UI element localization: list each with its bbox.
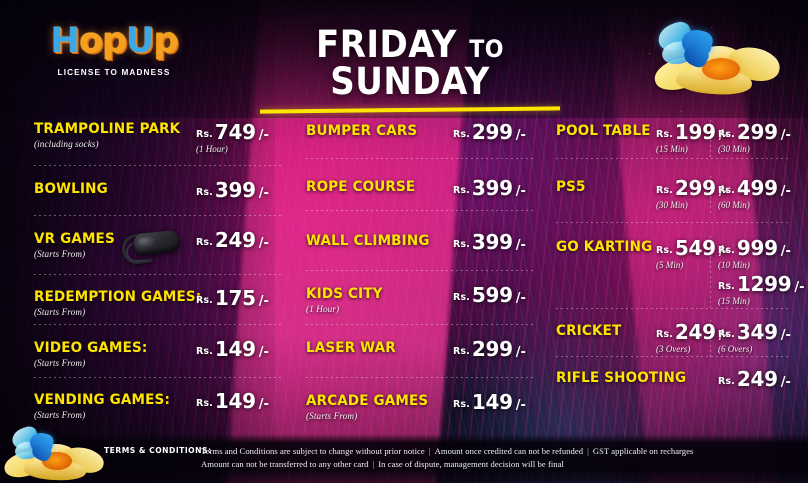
price-column-divider [710,176,711,214]
terms-line-1: Terms and Conditions are subject to chan… [201,445,801,458]
price-slash: /- [259,186,269,201]
currency-label: Rs. [196,398,213,409]
price-row: REDEMPTION GAMES: (Starts From) Rs.175/- [34,290,282,317]
currency-label: Rs. [656,245,673,256]
price-cell: Rs.299/- (30 Min) [718,122,791,154]
price-slash: /- [516,184,526,199]
price-amount: 249 [737,367,778,391]
price-amount: 149 [215,389,256,413]
currency-label: Rs. [656,129,673,140]
terms-line1-part-c: GST applicable on recharges [593,446,694,456]
row-divider [556,158,788,159]
promo-poster: HopUp LICENSE TO MADNESS FRIDAY TO SUNDA… [0,0,808,483]
brand-tagline: LICENSE TO MADNESS [46,68,182,77]
price-note: (30 Min) [718,145,791,154]
currency-label: Rs. [453,239,470,250]
price-row: BUMPER CARS Rs.299/- [306,124,534,139]
price-cell: Rs.149/- [453,392,526,412]
row-divider [556,308,788,309]
terms-line2-part-a: Amount can not be transferred to any oth… [201,459,368,469]
price-cell: Rs.599/- [453,285,526,305]
currency-label: Rs. [453,129,470,140]
price-note: (10 Min) [718,261,791,270]
price-row: VIDEO GAMES: (Starts From) Rs.149/- [34,341,282,368]
price-cell: Rs.249/- [718,369,791,389]
row-divider [34,165,282,166]
terms-line1-part-a: Terms and Conditions are subject to chan… [201,446,425,456]
currency-label: Rs. [196,295,213,306]
price-slash: /- [794,280,804,295]
logo-letter-p: p [153,21,177,61]
row-divider [306,377,534,378]
logo-letters-op: op [79,21,126,61]
price-cell: Rs.999/- (10 Min) [718,238,791,270]
terms-footer: TERMS & CONDITIONS: Terms and Conditions… [0,434,808,483]
currency-label: Rs. [196,129,213,140]
title-word-sunday: SUNDAY [330,60,489,103]
currency-label: Rs. [656,329,673,340]
price-slash: /- [781,244,791,259]
price-column-divider [710,236,711,310]
row-divider [34,377,282,378]
row-divider [34,324,282,325]
price-amount: 499 [737,176,778,200]
price-amount: 175 [215,286,256,310]
price-row: TRAMPOLINE PARK (including socks) Rs.749… [34,122,282,149]
price-amount: 599 [472,283,513,307]
price-cell: Rs.299/- [453,122,526,142]
price-row: KIDS CITY (1 Hour) Rs.599/- [306,287,534,314]
price-cell: Rs.299/- [453,339,526,359]
terms-line2-part-b: In case of dispute, management decision … [378,459,564,469]
price-slash: /- [516,128,526,143]
price-cell: Rs.175/- [196,288,269,308]
price-row: RIFLE SHOOTING Rs.249/- [556,371,788,386]
brand-logo: HopUp LICENSE TO MADNESS [46,24,182,77]
price-amount: 399 [215,178,256,202]
price-column-divider [710,320,711,358]
price-column-middle: BUMPER CARS Rs.299/- ROPE COURSE Rs.399/… [306,112,534,434]
price-row: POOL TABLE Rs.199/- (15 Min) Rs.299/- (3… [556,124,788,139]
price-slash: /- [259,128,269,143]
logo-letter-h: H [51,21,79,61]
price-row: WALL CLIMBING Rs.399/- [306,234,534,249]
terms-line1-part-b: Amount once credited can not be refunded [435,446,584,456]
price-columns: TRAMPOLINE PARK (including socks) Rs.749… [0,112,808,434]
price-slash: /- [259,397,269,412]
price-amount: 399 [472,176,513,200]
currency-label: Rs. [453,185,470,196]
price-slash: /- [781,328,791,343]
price-cell: Rs.399/- [196,180,269,200]
price-amount: 349 [737,320,778,344]
price-cell: Rs.1299/- (15 Min) [718,274,805,306]
price-row: PS5 Rs.299/- (30 Min) Rs.499/- (60 Min) [556,180,788,195]
price-slash: /- [516,345,526,360]
page-title: FRIDAY TO SUNDAY [245,26,575,112]
price-slash: /- [516,291,526,306]
price-cell: Rs.249/- [196,230,269,250]
currency-label: Rs. [718,129,735,140]
price-cell: Rs.149/- [196,391,269,411]
price-slash: /- [259,345,269,360]
poster-header: HopUp LICENSE TO MADNESS FRIDAY TO SUNDA… [0,0,808,112]
row-divider [306,324,534,325]
title-word-to: TO [469,35,504,63]
price-amount: 749 [215,120,256,144]
currency-label: Rs. [453,292,470,303]
terms-text: Terms and Conditions are subject to chan… [201,445,801,471]
price-note: (60 Min) [718,201,791,210]
price-amount: 299 [737,120,778,144]
price-row: BOWLING Rs.399/- [34,182,282,197]
butterfly-icon [12,428,60,464]
currency-label: Rs. [196,187,213,198]
price-cell: Rs.749/- (1 Hour) [196,122,269,154]
currency-label: Rs. [718,281,735,292]
price-cell: Rs.149/- [196,339,269,359]
butterfly-icon [658,24,720,70]
currency-label: Rs. [656,185,673,196]
price-amount: 299 [472,120,513,144]
row-divider [34,274,282,275]
currency-label: Rs. [718,245,735,256]
price-amount: 149 [215,337,256,361]
price-amount: 399 [472,230,513,254]
price-cell: Rs.499/- (60 Min) [718,178,791,210]
price-row: VR GAMES (Starts From) Rs.249/- [34,232,282,259]
terms-divider: | [425,446,435,456]
row-divider [34,215,282,216]
price-amount: 249 [215,228,256,252]
currency-label: Rs. [453,346,470,357]
price-slash: /- [259,236,269,251]
row-divider [556,356,788,357]
currency-label: Rs. [718,376,735,387]
terms-label: TERMS & CONDITIONS: [104,446,212,455]
price-slash: /- [781,375,791,390]
price-column-right: POOL TABLE Rs.199/- (15 Min) Rs.299/- (3… [556,112,788,434]
terms-line-2: Amount can not be transferred to any oth… [201,458,801,471]
price-cell: Rs.399/- [453,178,526,198]
price-note: (1 Hour) [196,145,269,154]
price-slash: /- [516,238,526,253]
row-divider [306,270,534,271]
flower-icon [648,36,788,98]
price-row: LASER WAR Rs.299/- [306,341,534,356]
price-amount: 1299 [737,272,791,296]
row-divider [306,158,534,159]
currency-label: Rs. [196,346,213,357]
flower-icon [4,438,108,483]
price-amount: 999 [737,236,778,260]
price-row: ROPE COURSE Rs.399/- [306,180,534,195]
price-note: (15 Min) [718,297,805,306]
price-amount: 299 [472,337,513,361]
price-cell: Rs.349/- (6 Overs) [718,322,791,354]
terms-divider: | [368,459,378,469]
price-column-divider [710,120,711,158]
logo-letter-u: U [126,21,153,61]
terms-divider: | [583,446,593,456]
price-note: (6 Overs) [718,345,791,354]
row-divider [556,222,788,223]
currency-label: Rs. [718,329,735,340]
price-row: VENDING GAMES: (Starts From) Rs.149/- [34,393,282,420]
price-amount: 149 [472,390,513,414]
price-row: CRICKET Rs.249/- (3 Overs) Rs.349/- (6 O… [556,324,788,339]
row-divider [306,210,534,211]
price-slash: /- [781,184,791,199]
currency-label: Rs. [453,399,470,410]
price-slash: /- [781,128,791,143]
price-row: ARCADE GAMES (Starts From) Rs.149/- [306,394,534,421]
currency-label: Rs. [196,237,213,248]
price-slash: /- [259,294,269,309]
vr-headset-icon [120,228,182,262]
price-slash: /- [516,398,526,413]
currency-label: Rs. [718,185,735,196]
price-cell: Rs.399/- [453,232,526,252]
price-column-left: TRAMPOLINE PARK (including socks) Rs.749… [34,112,282,434]
price-row: GO KARTING Rs.549/- (5 Min) Rs.999/- (10… [556,240,788,255]
